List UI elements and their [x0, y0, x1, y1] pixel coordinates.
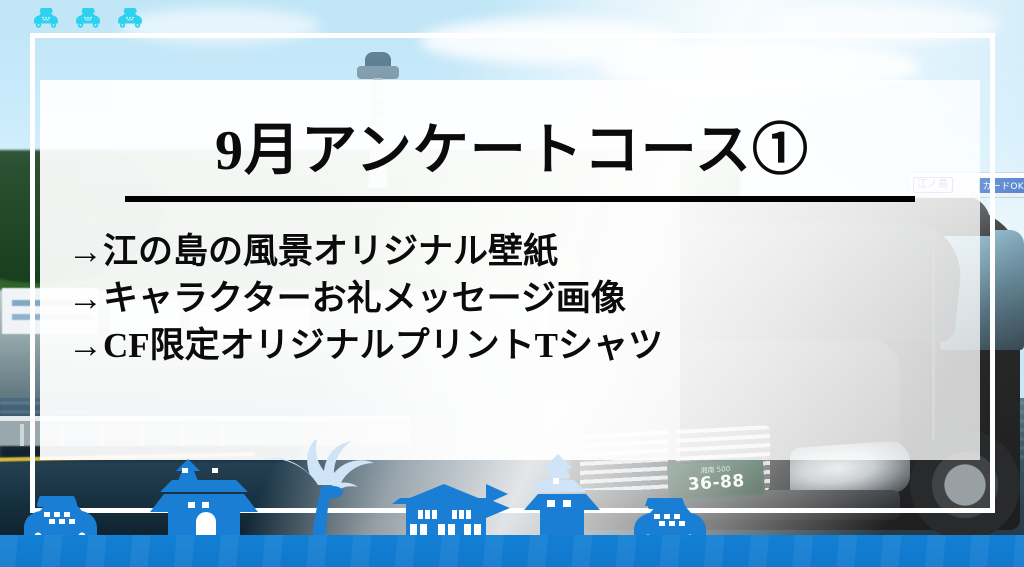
- list-item: →キャラクターお礼メッセージ画像: [68, 275, 768, 322]
- shrine-gate-silhouette: [524, 494, 600, 540]
- shrine-roof-accent: [530, 454, 586, 492]
- taxi-icon: [114, 6, 146, 30]
- list-item: →江の島の風景オリジナル壁紙: [68, 228, 768, 275]
- taxi-icon: [30, 6, 62, 30]
- title-divider: [125, 196, 915, 202]
- footer-band-texture: [0, 535, 1024, 567]
- taxi-silhouette: [24, 496, 97, 540]
- palm-tree-silhouette: [266, 440, 374, 493]
- banner-canvas: 江ノ島 カードOK 湘南 500 36-88: [0, 0, 1024, 567]
- bullet-list: →江の島の風景オリジナル壁紙 →キャラクターお礼メッセージ画像 →CF限定オリジ…: [68, 228, 768, 369]
- page-title: 9月アンケートコース①: [0, 105, 1024, 186]
- list-item: →CF限定オリジナルプリントTシャツ: [68, 322, 768, 369]
- taxi-icon: [72, 6, 104, 30]
- shrine-gate-silhouette: [150, 459, 258, 540]
- top-taxi-icon-row: [30, 6, 146, 30]
- footer-silhouette-row: [0, 440, 1024, 540]
